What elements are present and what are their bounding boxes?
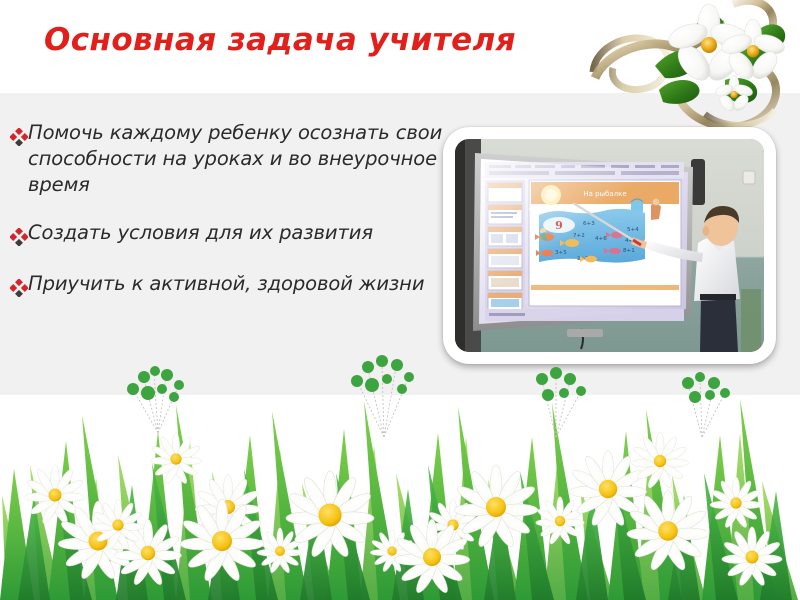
page-title: Основная задача учителя <box>44 22 516 58</box>
bullet-list: Помочь каждому ребенку осознать свои спо… <box>10 120 480 300</box>
slide-root: Основная задача учителя <box>0 0 800 600</box>
diamond-cluster-bullet-icon <box>10 274 28 300</box>
corner-floral-decoration <box>585 0 800 134</box>
list-item: Создать условия для их развития <box>10 220 480 249</box>
classroom-interactive-whiteboard-photo: На рыбалке 9 6+3 <box>455 139 764 352</box>
list-item-text: Создать условия для их развития <box>28 220 373 246</box>
list-item: Приучить к активной, здоровой жизни <box>10 271 480 300</box>
list-item-text: Приучить к активной, здоровой жизни <box>28 271 424 297</box>
classroom-photo-card: На рыбалке 9 6+3 <box>443 127 776 364</box>
diamond-cluster-bullet-icon <box>10 223 28 249</box>
list-item: Помочь каждому ребенку осознать свои спо… <box>10 120 480 198</box>
list-item-text: Помочь каждому ребенку осознать свои спо… <box>28 120 480 198</box>
diamond-cluster-bullet-icon <box>10 123 28 149</box>
grass-and-daisies-border <box>0 345 800 600</box>
